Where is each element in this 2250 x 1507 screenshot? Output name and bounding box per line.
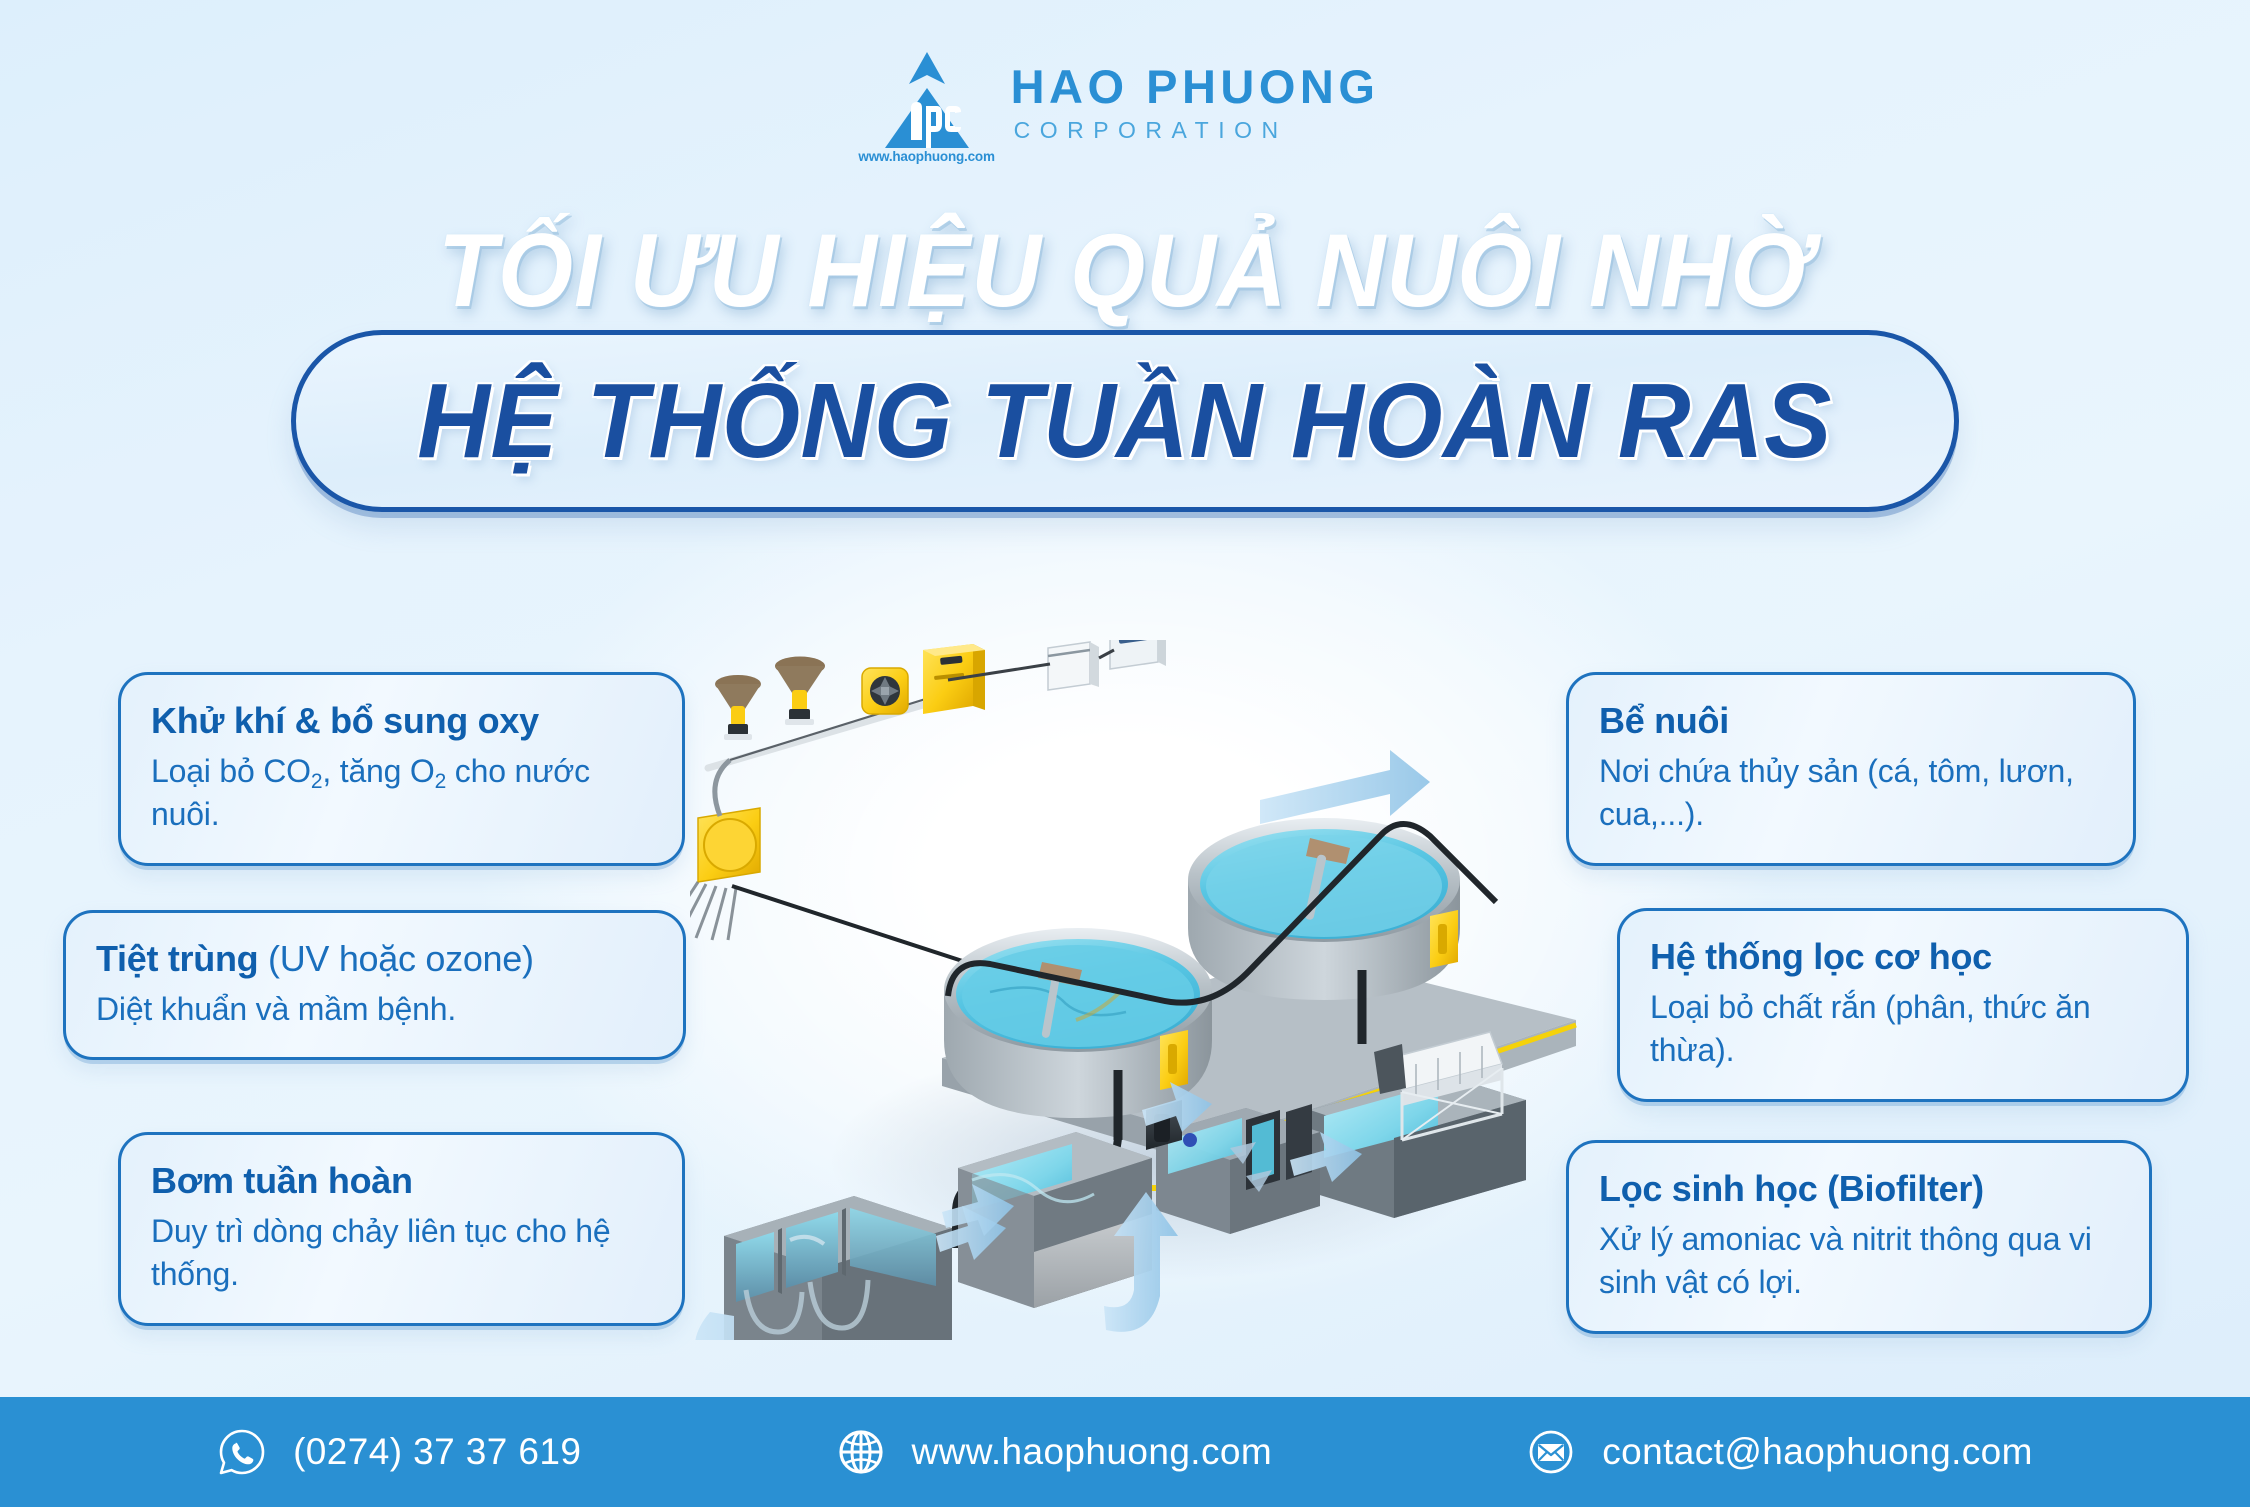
info-card-biofilter[interactable]: Lọc sinh học (Biofilter) Xử lý amoniac v… (1566, 1140, 2152, 1334)
page-title-line2: HỆ THỐNG TUẦN HOÀN RAS (418, 361, 1833, 482)
info-card-pump[interactable]: Bơm tuần hoàn Duy trì dòng chảy liên tục… (118, 1132, 685, 1326)
envelope-icon (1526, 1427, 1576, 1477)
sump-chamber-unit (724, 1196, 952, 1340)
phone-whatsapp-icon (217, 1427, 267, 1477)
card-body: Loại bỏ chất rắn (phân, thức ăn thừa). (1650, 986, 2156, 1073)
page-title-line1: TỐI ƯU HIỆU QUẢ NUÔI NHỜ (79, 212, 2172, 331)
card-body: Xử lý amoniac và nitrit thông qua vi sin… (1599, 1218, 2119, 1305)
o2-subscript: 2 (435, 770, 446, 793)
footer-website-text: www.haophuong.com (912, 1431, 1273, 1473)
instrument-unit-2 (1110, 640, 1166, 669)
pipe-pump-to-tank (732, 886, 990, 970)
card-body: Diệt khuẩn và mầm bệnh. (96, 988, 653, 1032)
hpc-pyramid-logo-icon: www.haophuong.com (871, 44, 983, 162)
globe-icon (836, 1427, 886, 1477)
info-card-uv-ozone[interactable]: Tiệt trùng (UV hoặc ozone) Diệt khuẩn và… (63, 910, 686, 1060)
valve-left (1160, 1030, 1188, 1090)
brand-name: HAO PHUONG (1011, 62, 1380, 111)
card-title: Bể nuôi (1599, 699, 2103, 743)
logo-url-text: www.haophuong.com (858, 149, 994, 164)
footer-email[interactable]: contact@haophuong.com (1526, 1427, 2033, 1477)
contact-footer: (0274) 37 37 619 www.haophuong.com conta (0, 1397, 2250, 1507)
footer-phone[interactable]: (0274) 37 37 619 (217, 1427, 581, 1477)
blower-unit-1 (715, 675, 761, 740)
degassing-equipment-group (708, 640, 1166, 768)
valve-right (1430, 910, 1458, 968)
card-body: Duy trì dòng chảy liên tục cho hệ thống. (151, 1210, 652, 1297)
page-title-badge: HỆ THỐNG TUẦN HOÀN RAS (291, 330, 1959, 512)
culture-tank-left (944, 928, 1212, 1118)
instrument-unit-1 (1048, 642, 1099, 690)
card-title: Lọc sinh học (Biofilter) (1599, 1167, 2119, 1211)
footer-email-text: contact@haophuong.com (1602, 1431, 2033, 1473)
card-title: Bơm tuần hoàn (151, 1159, 652, 1203)
info-card-mechanical-filter[interactable]: Hệ thống lọc cơ học Loại bỏ chất rắn (ph… (1617, 908, 2189, 1102)
footer-phone-text: (0274) 37 37 619 (293, 1431, 581, 1473)
card-title-suffix: (UV hoặc ozone) (258, 938, 533, 979)
ras-system-diagram (690, 640, 1590, 1340)
brand-wordmark: HAO PHUONG CORPORATION (1011, 62, 1380, 144)
flow-arrow-return (1260, 750, 1430, 824)
card-title: Tiệt trùng (UV hoặc ozone) (96, 937, 653, 981)
card-title: Khử khí & bổ sung oxy (151, 699, 652, 743)
card-body: Loại bỏ CO2, tăng O2 cho nước nuôi. (151, 750, 652, 837)
info-card-degassing[interactable]: Khử khí & bổ sung oxy Loại bỏ CO2, tăng … (118, 672, 685, 866)
card-body: Nơi chứa thủy sản (cá, tôm, lươn, cua,..… (1599, 750, 2103, 837)
brand-subtitle: CORPORATION (1014, 117, 1380, 144)
footer-website[interactable]: www.haophuong.com (836, 1427, 1273, 1477)
brand-header: www.haophuong.com HAO PHUONG CORPORATION (0, 44, 2250, 162)
blower-unit-2 (775, 657, 825, 726)
culture-tank-right (1188, 818, 1460, 1000)
co2-subscript: 2 (311, 770, 322, 793)
fan-unit (862, 668, 908, 714)
card-title: Hệ thống lọc cơ học (1650, 935, 2156, 979)
circulation-pump-unit (690, 760, 760, 940)
info-card-culture-tank[interactable]: Bể nuôi Nơi chứa thủy sản (cá, tôm, lươn… (1566, 672, 2136, 866)
